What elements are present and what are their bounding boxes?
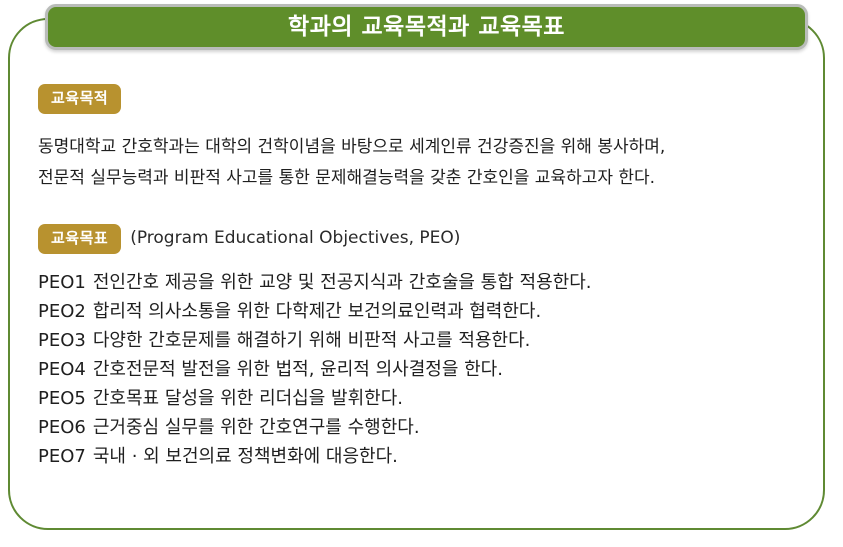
- content-area: 교육목적 동명대학교 간호학과는 대학의 건학이념을 바탕으로 세계인류 건강증…: [38, 84, 808, 471]
- peo-text: 근거중심 실무를 위한 간호연구를 수행한다.: [93, 417, 420, 438]
- list-item: PEO2합리적 의사소통을 위한 다학제간 보건의료인력과 협력한다.: [38, 297, 808, 326]
- peo-text: 간호전문적 발전을 위한 법적, 윤리적 의사결정을 한다.: [93, 359, 503, 380]
- list-item: PEO6근거중심 실무를 위한 간호연구를 수행한다.: [38, 413, 808, 442]
- list-item: PEO4간호전문적 발전을 위한 법적, 윤리적 의사결정을 한다.: [38, 355, 808, 384]
- purpose-line: 동명대학교 간호학과는 대학의 건학이념을 바탕으로 세계인류 건강증진을 위해…: [38, 132, 808, 163]
- peo-code: PEO4: [38, 359, 86, 380]
- peo-code: PEO3: [38, 330, 86, 351]
- list-item: PEO3다양한 간호문제를 해결하기 위해 비판적 사고를 적용한다.: [38, 326, 808, 355]
- list-item: PEO5간호목표 달성을 위한 리더십을 발휘한다.: [38, 384, 808, 413]
- peo-code: PEO2: [38, 301, 86, 322]
- objectives-header: 교육목표 (Program Educational Objectives, PE…: [38, 224, 808, 254]
- peo-text: 국내 · 외 보건의료 정책변화에 대응한다.: [93, 446, 398, 467]
- objectives-note: (Program Educational Objectives, PEO): [130, 230, 460, 248]
- peo-text: 전인간호 제공을 위한 교양 및 전공지식과 간호술을 통합 적용한다.: [93, 272, 592, 293]
- purpose-header: 교육목적: [38, 84, 808, 114]
- purpose-text-block: 동명대학교 간호학과는 대학의 건학이념을 바탕으로 세계인류 건강증진을 위해…: [38, 132, 808, 194]
- peo-list: PEO1전인간호 제공을 위한 교양 및 전공지식과 간호술을 통합 적용한다.…: [38, 268, 808, 471]
- page-root: 학과의 교육목적과 교육목표 교육목적 동명대학교 간호학과는 대학의 건학이념…: [0, 0, 843, 547]
- peo-text: 간호목표 달성을 위한 리더십을 발휘한다.: [93, 388, 403, 409]
- purpose-line: 전문적 실무능력과 비판적 사고를 통한 문제해결능력을 갖춘 간호인을 교육하…: [38, 163, 808, 194]
- peo-text: 다양한 간호문제를 해결하기 위해 비판적 사고를 적용한다.: [93, 330, 531, 351]
- peo-code: PEO7: [38, 446, 86, 467]
- purpose-badge: 교육목적: [38, 84, 121, 114]
- page-title-bar: 학과의 교육목적과 교육목표: [45, 4, 808, 50]
- peo-text: 합리적 의사소통을 위한 다학제간 보건의료인력과 협력한다.: [93, 301, 541, 322]
- peo-code: PEO1: [38, 272, 86, 293]
- list-item: PEO1전인간호 제공을 위한 교양 및 전공지식과 간호술을 통합 적용한다.: [38, 268, 808, 297]
- objectives-badge: 교육목표: [38, 224, 121, 254]
- peo-code: PEO5: [38, 388, 86, 409]
- list-item: PEO7국내 · 외 보건의료 정책변화에 대응한다.: [38, 442, 808, 471]
- page-title: 학과의 교육목적과 교육목표: [288, 16, 565, 39]
- peo-code: PEO6: [38, 417, 86, 438]
